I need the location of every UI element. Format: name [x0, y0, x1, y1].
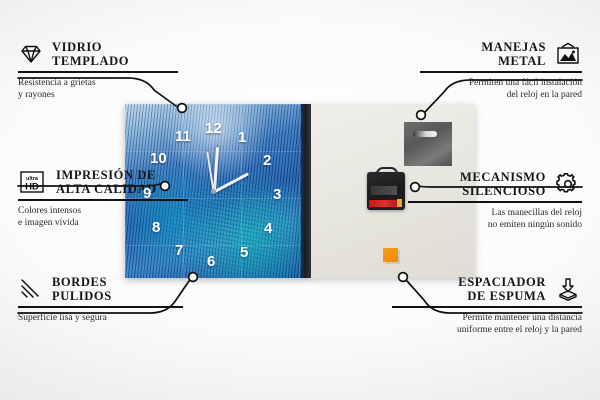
ultra-hd-icon-bottom: HD — [25, 182, 39, 193]
ultra-hd-icon: ultra HD — [18, 170, 48, 194]
callout-desc: Superficie lisa y segura — [18, 312, 183, 324]
callout-desc: Permiten una fácil instalación — [420, 77, 582, 89]
callout-divider — [18, 306, 183, 308]
callout-title: BORDES — [52, 275, 112, 289]
callout-title: ESPACIADOR — [458, 275, 546, 289]
callout-desc: Las manecillas del reloj — [408, 207, 582, 219]
infographic-canvas: 12 1 2 3 4 5 6 7 8 9 10 11 — [0, 0, 600, 400]
clock-minute-hand — [213, 147, 219, 191]
callout-manejas-metal: MANEJAS METAL Permiten una fácil instala… — [420, 40, 582, 101]
callout-title-2: PULIDOS — [52, 289, 112, 303]
polished-edges-icon — [18, 277, 44, 301]
clock-numeral-10: 10 — [150, 151, 167, 166]
foam-spacer-arrow-icon — [554, 277, 582, 301]
callout-divider — [420, 71, 582, 73]
clock-numeral-2: 2 — [263, 153, 271, 168]
callout-divider — [18, 199, 188, 201]
callout-title: VIDRIO — [52, 40, 129, 54]
callout-title-2: ALTA CALIDAD — [56, 182, 157, 196]
callout-desc-2: uniforme entre el reloj y la pared — [392, 324, 582, 336]
clock-numeral-7: 7 — [175, 243, 183, 258]
callout-title-2: DE ESPUMA — [458, 289, 546, 303]
callout-impresion-alta-calidad: ultra HD IMPRESIÓN DE ALTA CALIDAD Color… — [18, 168, 188, 229]
clock-numeral-3: 3 — [273, 187, 281, 202]
callout-mecanismo-silencioso: MECANISMO SILENCIOSO Las manecillas del … — [408, 170, 582, 231]
callout-title-2: METAL — [481, 54, 546, 68]
callout-title-2: SILENCIOSO — [460, 184, 546, 198]
foam-spacer — [383, 248, 398, 262]
clock-numeral-9: 9 — [143, 186, 151, 201]
clock-numeral-5: 5 — [240, 245, 248, 260]
gear-icon — [554, 172, 582, 196]
callout-desc-2: no emiten ningún sonido — [408, 219, 582, 231]
callout-vidrio-templado: VIDRIO TEMPLADO Resistencia a grietas y … — [18, 40, 178, 101]
callout-desc: Colores intensos — [18, 205, 188, 217]
callout-espaciador-espuma: ESPACIADOR DE ESPUMA Permite mantener un… — [392, 275, 582, 336]
callout-bordes-pulidos: BORDES PULIDOS Superficie lisa y segura — [18, 275, 183, 324]
callout-divider — [408, 201, 582, 203]
clock-numeral-8: 8 — [152, 220, 160, 235]
callout-divider — [18, 71, 178, 73]
metal-hanger-plate — [404, 122, 452, 166]
callout-desc: Resistencia a grietas — [18, 77, 178, 89]
clock-numeral-6: 6 — [207, 254, 215, 269]
clock-center-pin — [211, 189, 216, 194]
callout-desc-2: del reloj en la pared — [420, 89, 582, 101]
callout-title-2: TEMPLADO — [52, 54, 129, 68]
clock-numeral-1: 1 — [238, 130, 246, 145]
clock-numeral-12: 12 — [205, 121, 222, 136]
clock-mechanism — [367, 172, 405, 210]
callout-title: IMPRESIÓN DE — [56, 168, 157, 182]
callout-desc-2: e imagen vívida — [18, 217, 188, 229]
framed-picture-hanging-icon — [554, 42, 582, 66]
callout-desc: Permite mantener una distancia — [392, 312, 582, 324]
clock-numeral-11: 11 — [175, 129, 191, 144]
callout-title: MECANISMO — [460, 170, 546, 184]
callout-desc-2: y rayones — [18, 89, 178, 101]
clock-hour-hand — [212, 172, 249, 193]
callout-divider — [392, 306, 582, 308]
diamond-icon — [18, 42, 44, 66]
clock-numeral-4: 4 — [264, 221, 272, 236]
clock-side-edge — [301, 104, 311, 278]
callout-title: MANEJAS — [481, 40, 546, 54]
